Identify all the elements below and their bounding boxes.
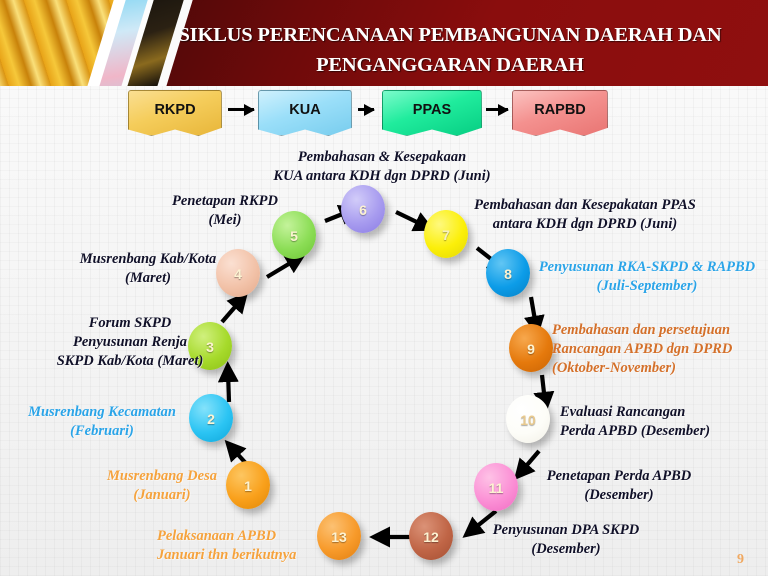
flow-box-rapbd-label: RAPBD xyxy=(534,102,586,118)
cycle-node-11-number: 11 xyxy=(489,480,504,496)
caption-forum-skpd: Forum SKPD Penyusunan Renja SKPD Kab/Kot… xyxy=(22,314,238,371)
flow-arrow-ppas-to-rapbd xyxy=(486,108,508,111)
flow-box-ppas-label: PPAS xyxy=(413,102,451,118)
caption-penetapan-rkpd: Penetapan RKPD (Mei) xyxy=(144,192,306,230)
cycle-node-12[interactable]: 12 xyxy=(409,512,453,560)
page-title-line1: SIKLUS PERENCANAAN PEMBANGUNAN DAERAH DA… xyxy=(150,20,750,50)
flow-box-kua-label: KUA xyxy=(289,102,320,118)
slide-canvas: SIKLUS PERENCANAAN PEMBANGUNAN DAERAH DA… xyxy=(0,0,768,576)
caption-penetapan-perda-apbd: Penetapan Perda APBD (Desember) xyxy=(526,467,712,505)
cycle-node-9-number: 9 xyxy=(527,341,535,357)
cycle-node-10-number: 10 xyxy=(520,412,536,428)
flow-box-ppas[interactable]: PPAS xyxy=(382,90,482,136)
cycle-node-6[interactable]: 6 xyxy=(341,185,385,233)
caption-musrenbang-kabkota: Musrenbang Kab/Kota (Maret) xyxy=(60,250,236,288)
caption-kua-agreement: Pembahasan & Kesepakaan KUA antara KDH d… xyxy=(232,148,532,186)
flow-arrow-kua-to-ppas xyxy=(358,108,374,111)
cycle-node-5-number: 5 xyxy=(290,228,298,244)
page-title-line2: PENGANGGARAN DAERAH xyxy=(150,50,750,80)
flow-box-rapbd[interactable]: RAPBD xyxy=(512,90,608,136)
flow-arrow-rkpd-to-kua xyxy=(228,108,254,111)
cycle-node-2-number: 2 xyxy=(207,411,215,427)
flow-box-kua[interactable]: KUA xyxy=(258,90,352,136)
flow-box-rkpd-label: RKPD xyxy=(154,102,195,118)
flow-box-rkpd[interactable]: RKPD xyxy=(128,90,222,136)
caption-pembahasan-apbd: Pembahasan dan persetujuan Rancangan APB… xyxy=(552,321,768,378)
caption-penyusunan-dpa-skpd: Penyusunan DPA SKPD (Desember) xyxy=(466,521,666,559)
cycle-node-1[interactable]: 1 xyxy=(226,461,270,509)
cycle-node-9[interactable]: 9 xyxy=(509,324,553,372)
cycle-node-6-number: 6 xyxy=(359,202,367,218)
cycle-node-8[interactable]: 8 xyxy=(486,249,530,297)
page-number: 9 xyxy=(737,552,744,568)
cycle-node-11[interactable]: 11 xyxy=(474,463,518,511)
caption-musrenbang-kecamatan: Musrenbang Kecamatan (Februari) xyxy=(8,403,196,441)
cycle-node-12-number: 12 xyxy=(423,529,439,545)
caption-ppas-agreement: Pembahasan dan Kesepakatan PPAS antara K… xyxy=(446,196,724,234)
page-title: SIKLUS PERENCANAAN PEMBANGUNAN DAERAH DA… xyxy=(150,20,750,80)
caption-penyusunan-rka-skpd: Penyusunan RKA-SKPD & RAPBD (Juli-Septem… xyxy=(528,258,766,296)
caption-evaluasi-rancangan: Evaluasi Rancangan Perda APBD (Desember) xyxy=(560,403,760,441)
caption-musrenbang-desa: Musrenbang Desa (Januari) xyxy=(96,467,228,505)
cycle-node-8-number: 8 xyxy=(504,266,512,282)
cycle-node-10[interactable]: 10 xyxy=(506,395,550,443)
caption-pelaksanaan-apbd: Pelaksanaan APBD Januari thn berikutnya xyxy=(157,527,337,565)
cycle-node-1-number: 1 xyxy=(244,478,252,494)
slide-header: SIKLUS PERENCANAAN PEMBANGUNAN DAERAH DA… xyxy=(0,0,768,86)
